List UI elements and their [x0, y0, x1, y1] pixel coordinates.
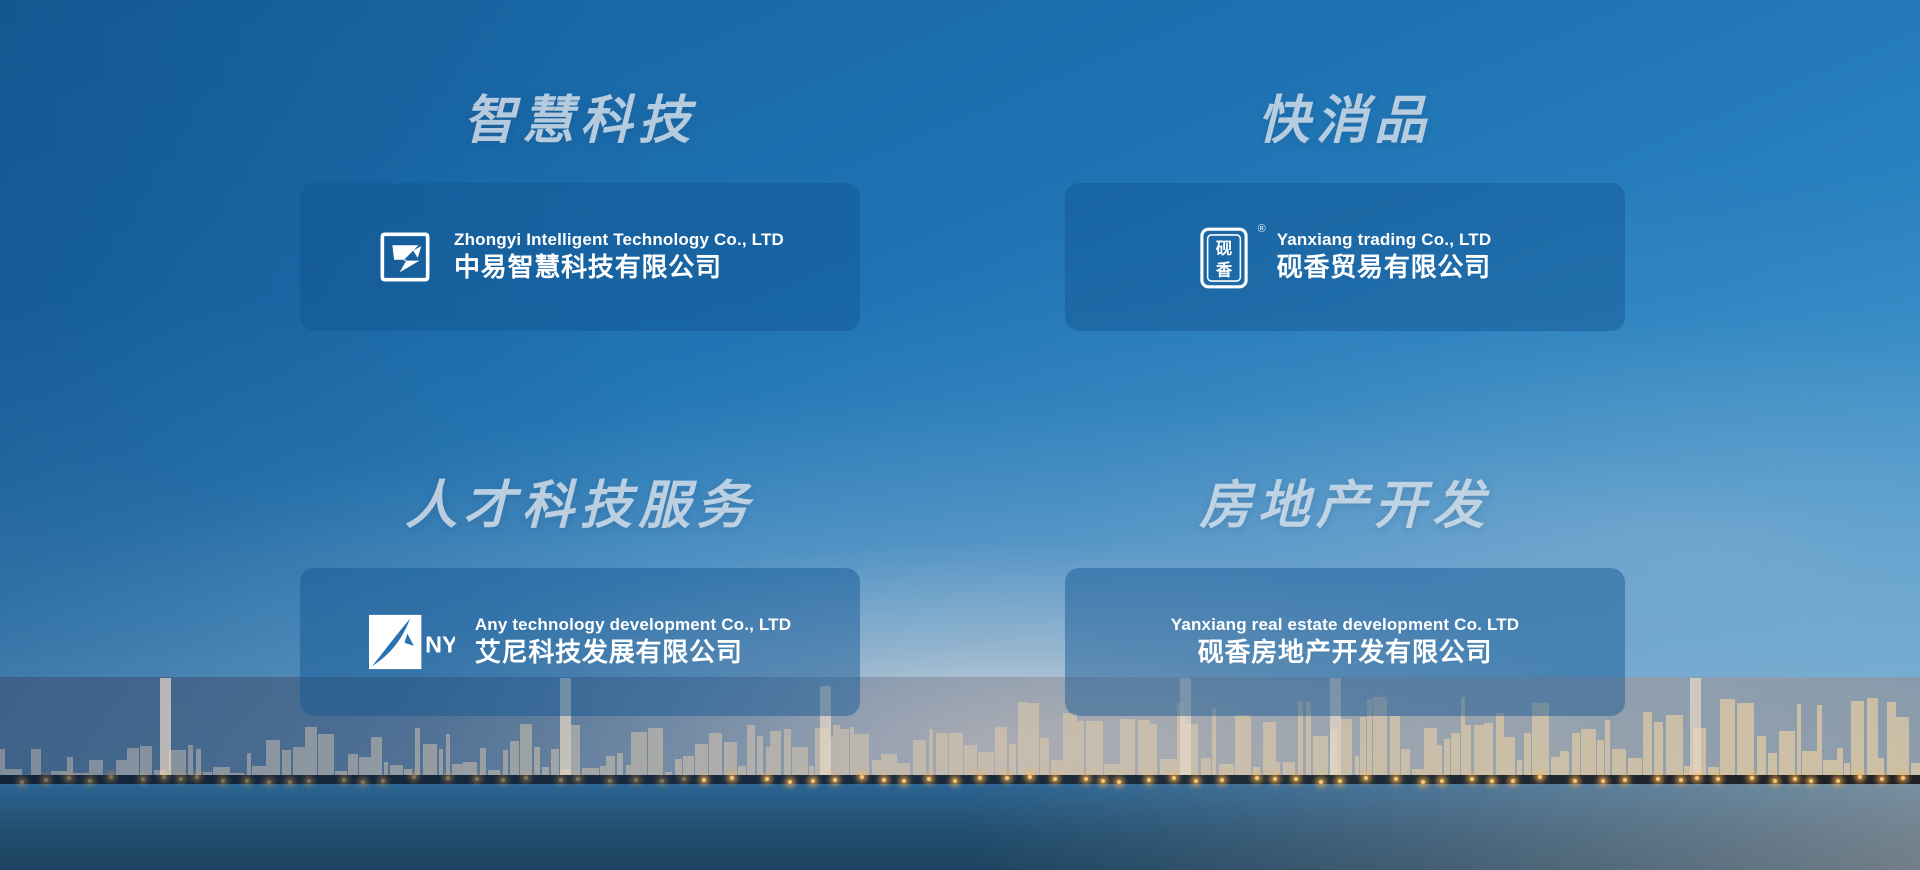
company-names: Yanxiang trading Co., LTD 砚香贸易有限公司 [1277, 230, 1492, 285]
company-card[interactable]: Yanxiang real estate development Co. LTD… [1065, 568, 1625, 716]
company-name-en: Any technology development Co., LTD [475, 615, 791, 635]
segment-heading: 房地产开发 [1065, 480, 1625, 532]
company-name-en: Zhongyi Intelligent Technology Co., LTD [454, 230, 784, 250]
segment-real-estate-development: 房地产开发 Yanxiang real estate development C… [1065, 480, 1625, 716]
company-name-en: Yanxiang real estate development Co. LTD [1171, 615, 1519, 635]
company-name-cn: 砚香房地产开发有限公司 [1198, 637, 1493, 670]
svg-text:NY: NY [425, 631, 455, 657]
zhongyi-z-logo-icon [376, 228, 434, 286]
company-card[interactable]: Zhongyi Intelligent Technology Co., LTD … [300, 183, 860, 331]
segment-talent-tech-services: 人才科技服务 NY Any technology development Co.… [300, 480, 860, 716]
company-name-cn: 中易智慧科技有限公司 [454, 252, 784, 285]
company-name-cn: 砚香贸易有限公司 [1277, 252, 1492, 285]
yanxiang-seal-logo-icon: 砚 香 ® [1199, 226, 1257, 288]
segment-heading: 智慧科技 [300, 95, 860, 147]
company-names: Zhongyi Intelligent Technology Co., LTD … [454, 230, 784, 285]
company-name-cn: 艾尼科技发展有限公司 [475, 637, 791, 670]
page-root: 智慧科技 Zhongyi Intelligent Technology Co.,… [0, 0, 1920, 870]
segment-smart-technology: 智慧科技 Zhongyi Intelligent Technology Co.,… [300, 95, 860, 331]
segment-heading: 人才科技服务 [300, 480, 860, 532]
company-name-en: Yanxiang trading Co., LTD [1277, 230, 1492, 250]
segment-heading: 快消品 [1065, 95, 1625, 147]
business-segments-grid: 智慧科技 Zhongyi Intelligent Technology Co.,… [0, 0, 1920, 870]
registered-mark: ® [1258, 223, 1266, 235]
svg-text:香: 香 [1215, 260, 1233, 279]
company-names: Yanxiang real estate development Co. LTD… [1171, 615, 1519, 670]
company-names: Any technology development Co., LTD 艾尼科技… [475, 615, 791, 670]
svg-text:砚: 砚 [1216, 239, 1232, 258]
any-mountain-logo-icon: NY [369, 613, 455, 671]
company-card[interactable]: 砚 香 ® Yanxiang trading Co., LTD 砚香贸易有限公司 [1065, 183, 1625, 331]
company-card[interactable]: NY Any technology development Co., LTD 艾… [300, 568, 860, 716]
segment-fmcg: 快消品 砚 香 ® Yanxiang trading Co., LTD [1065, 95, 1625, 331]
